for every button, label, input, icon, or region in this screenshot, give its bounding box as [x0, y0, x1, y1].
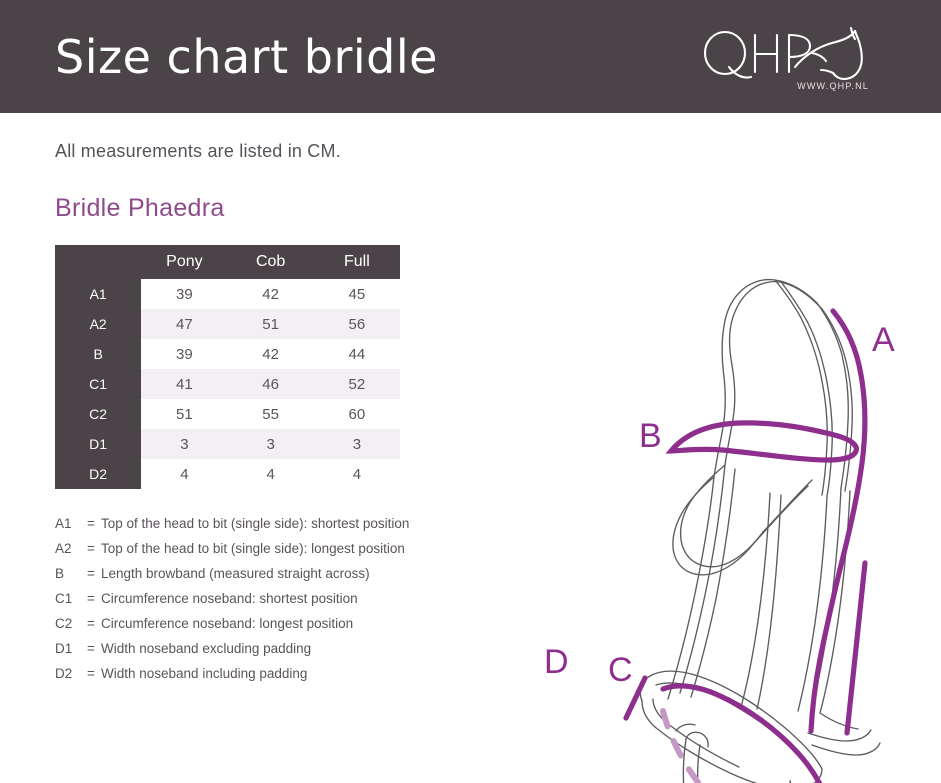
horse-head-icon — [699, 23, 871, 85]
cell-c2-full: 60 — [314, 399, 400, 429]
legend-text: Width noseband excluding padding — [101, 636, 311, 661]
cell-c2-cob: 55 — [228, 399, 314, 429]
legend-key: B — [55, 561, 87, 586]
cell-d2-full: 4 — [314, 459, 400, 489]
cell-d1-pony: 3 — [141, 429, 227, 459]
page-title: Size chart bridle — [55, 30, 438, 84]
table-row: D2 4 4 4 — [55, 459, 400, 489]
column-header-full: Full — [314, 245, 400, 279]
label-c: C — [608, 651, 633, 689]
cell-a1-pony: 39 — [141, 279, 227, 309]
legend-equals: = — [87, 661, 101, 686]
legend-text: Width noseband including padding — [101, 661, 307, 686]
left-column: All measurements are listed in CM. Bridl… — [55, 141, 495, 686]
row-label-a2: A2 — [55, 309, 141, 339]
row-label-c2: C2 — [55, 399, 141, 429]
table-body: A1 39 42 45 A2 47 51 56 B 39 42 44 — [55, 279, 400, 489]
legend-item-d2: D2 = Width noseband including padding — [55, 661, 495, 686]
legend-item-a1: A1 = Top of the head to bit (single side… — [55, 511, 495, 536]
size-table: Pony Cob Full A1 39 42 45 A2 47 51 56 — [55, 245, 400, 489]
legend-equals: = — [87, 511, 101, 536]
cell-b-pony: 39 — [141, 339, 227, 369]
cell-d1-cob: 3 — [228, 429, 314, 459]
qhp-logo: WWW.QHP.NL — [699, 23, 871, 91]
legend-equals: = — [87, 636, 101, 661]
row-label-b: B — [55, 339, 141, 369]
bridle-diagram: A B C D — [490, 133, 940, 783]
row-label-d2: D2 — [55, 459, 141, 489]
cell-a1-full: 45 — [314, 279, 400, 309]
cell-d1-full: 3 — [314, 429, 400, 459]
row-label-d1: D1 — [55, 429, 141, 459]
table-row: B 39 42 44 — [55, 339, 400, 369]
legend-text: Top of the head to bit (single side): sh… — [101, 511, 409, 536]
label-a: A — [872, 321, 895, 359]
cell-b-full: 44 — [314, 339, 400, 369]
logo-url: WWW.QHP.NL — [797, 81, 869, 91]
cell-d2-pony: 4 — [141, 459, 227, 489]
row-label-c1: C1 — [55, 369, 141, 399]
section-title: Bridle Phaedra — [55, 194, 495, 223]
cell-a2-pony: 47 — [141, 309, 227, 339]
measurements-note: All measurements are listed in CM. — [55, 141, 495, 162]
table-row: C2 51 55 60 — [55, 399, 400, 429]
legend-key: A1 — [55, 511, 87, 536]
cell-b-cob: 42 — [228, 339, 314, 369]
cell-c1-pony: 41 — [141, 369, 227, 399]
cell-d2-cob: 4 — [228, 459, 314, 489]
cell-c2-pony: 51 — [141, 399, 227, 429]
row-label-a1: A1 — [55, 279, 141, 309]
table-row: A2 47 51 56 — [55, 309, 400, 339]
cell-c1-cob: 46 — [228, 369, 314, 399]
legend-text: Length browband (measured straight acros… — [101, 561, 370, 586]
cell-c1-full: 52 — [314, 369, 400, 399]
legend-item-a2: A2 = Top of the head to bit (single side… — [55, 536, 495, 561]
bridle-illustration: A B C D — [490, 133, 940, 783]
legend-key: D2 — [55, 661, 87, 686]
table-row: C1 41 46 52 — [55, 369, 400, 399]
label-d: D — [544, 643, 569, 681]
legend-item-d1: D1 = Width noseband excluding padding — [55, 636, 495, 661]
column-header-pony: Pony — [141, 245, 227, 279]
page-header: Size chart bridle WWW.QH — [0, 0, 941, 113]
table-row: D1 3 3 3 — [55, 429, 400, 459]
legend-item-c1: C1 = Circumference noseband: shortest po… — [55, 586, 495, 611]
column-header-cob: Cob — [228, 245, 314, 279]
legend: A1 = Top of the head to bit (single side… — [55, 511, 495, 686]
cell-a1-cob: 42 — [228, 279, 314, 309]
cell-a2-cob: 51 — [228, 309, 314, 339]
legend-text: Circumference noseband: shortest positio… — [101, 586, 358, 611]
page-content: All measurements are listed in CM. Bridl… — [0, 113, 941, 781]
legend-item-c2: C2 = Circumference noseband: longest pos… — [55, 611, 495, 636]
legend-item-b: B = Length browband (measured straight a… — [55, 561, 495, 586]
table-row: A1 39 42 45 — [55, 279, 400, 309]
bridle-outline — [640, 280, 880, 783]
table-corner-cell — [55, 245, 141, 279]
measurement-line-a — [811, 311, 865, 731]
legend-key: C1 — [55, 586, 87, 611]
table-header-row: Pony Cob Full — [55, 245, 400, 279]
legend-equals: = — [87, 586, 101, 611]
label-b: B — [639, 417, 662, 455]
legend-text: Top of the head to bit (single side): lo… — [101, 536, 405, 561]
table-head: Pony Cob Full — [55, 245, 400, 279]
legend-key: A2 — [55, 536, 87, 561]
legend-equals: = — [87, 536, 101, 561]
legend-text: Circumference noseband: longest position — [101, 611, 353, 636]
legend-key: C2 — [55, 611, 87, 636]
measurement-line-b — [671, 423, 856, 460]
legend-equals: = — [87, 561, 101, 586]
legend-key: D1 — [55, 636, 87, 661]
cell-a2-full: 56 — [314, 309, 400, 339]
legend-equals: = — [87, 611, 101, 636]
